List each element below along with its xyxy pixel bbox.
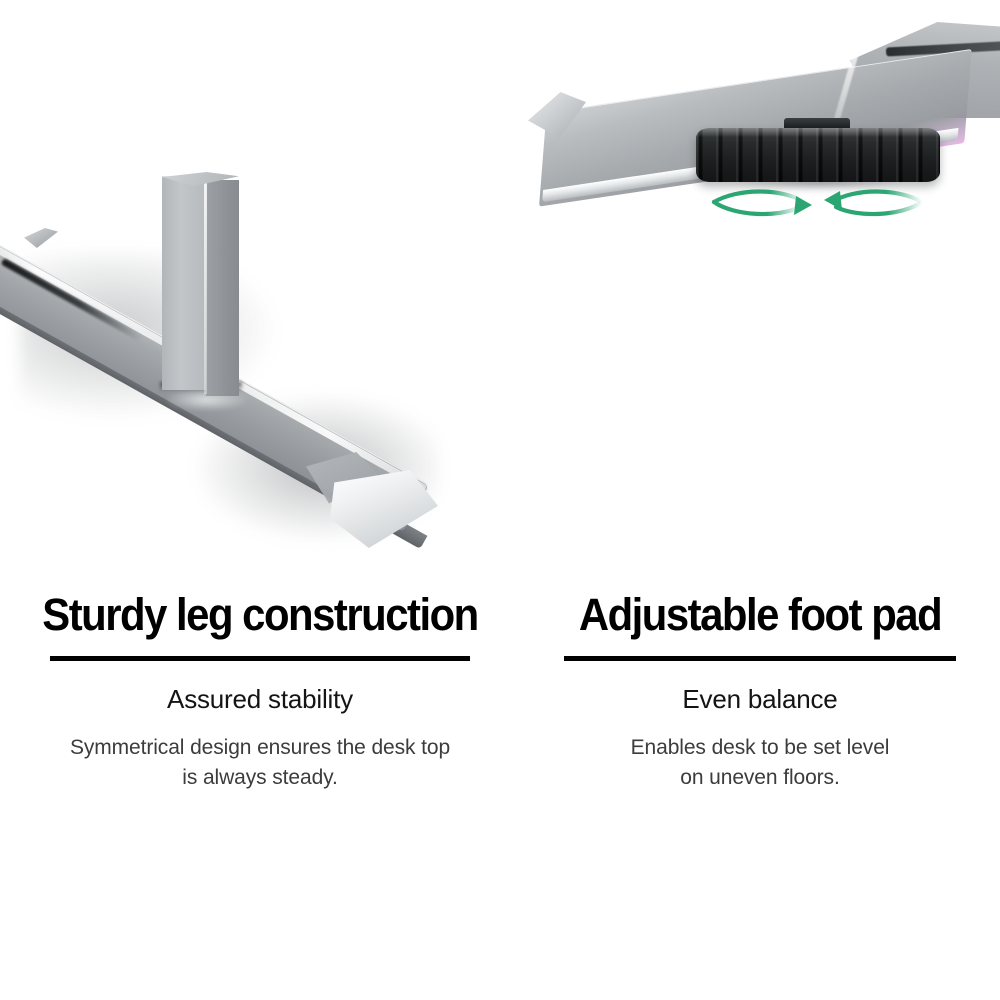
feature-description-line: Enables desk to be set level [520,733,1000,763]
foot-pad-illustration [520,0,1000,575]
feature-description-line: is always steady. [0,763,520,793]
foot-bar-far-tip [24,228,58,248]
feature-block-sturdy-leg: Sturdy leg construction Assured stabilit… [0,575,520,793]
photo-row [0,0,1000,575]
leg-column-corner-edge [204,178,207,394]
adjustable-foot-pad-photo [520,0,1000,575]
rotation-arrow-left [824,191,922,214]
feature-title: Adjustable foot pad [537,587,983,643]
feature-description: Enables desk to be set level on uneven f… [520,733,1000,793]
leg-column-right-face [206,180,239,396]
feature-block-adjustable-foot-pad: Adjustable foot pad Even balance Enables… [520,575,1000,793]
desk-leg-base-photo [0,0,520,575]
foot-pad-rim-highlight [696,128,940,137]
feature-title: Sturdy leg construction [18,587,502,643]
leg-column-left-face [162,176,206,390]
feature-description-line: on uneven floors. [520,763,1000,793]
feature-description: Symmetrical design ensures the desk top … [0,733,520,793]
feature-text-row: Sturdy leg construction Assured stabilit… [0,575,1000,1000]
desk-leg-illustration [0,0,520,575]
rotation-arrow-right [714,192,812,216]
feature-subtitle: Assured stability [0,683,520,715]
title-underline-rule [564,656,956,661]
infographic-canvas: Sturdy leg construction Assured stabilit… [0,0,1000,1000]
rotation-arrows-icon [708,182,928,232]
title-underline-rule [50,656,470,661]
feature-description-line: Symmetrical design ensures the desk top [0,733,520,763]
feature-subtitle: Even balance [520,683,1000,715]
adjustable-foot-pad-disc [696,128,940,182]
